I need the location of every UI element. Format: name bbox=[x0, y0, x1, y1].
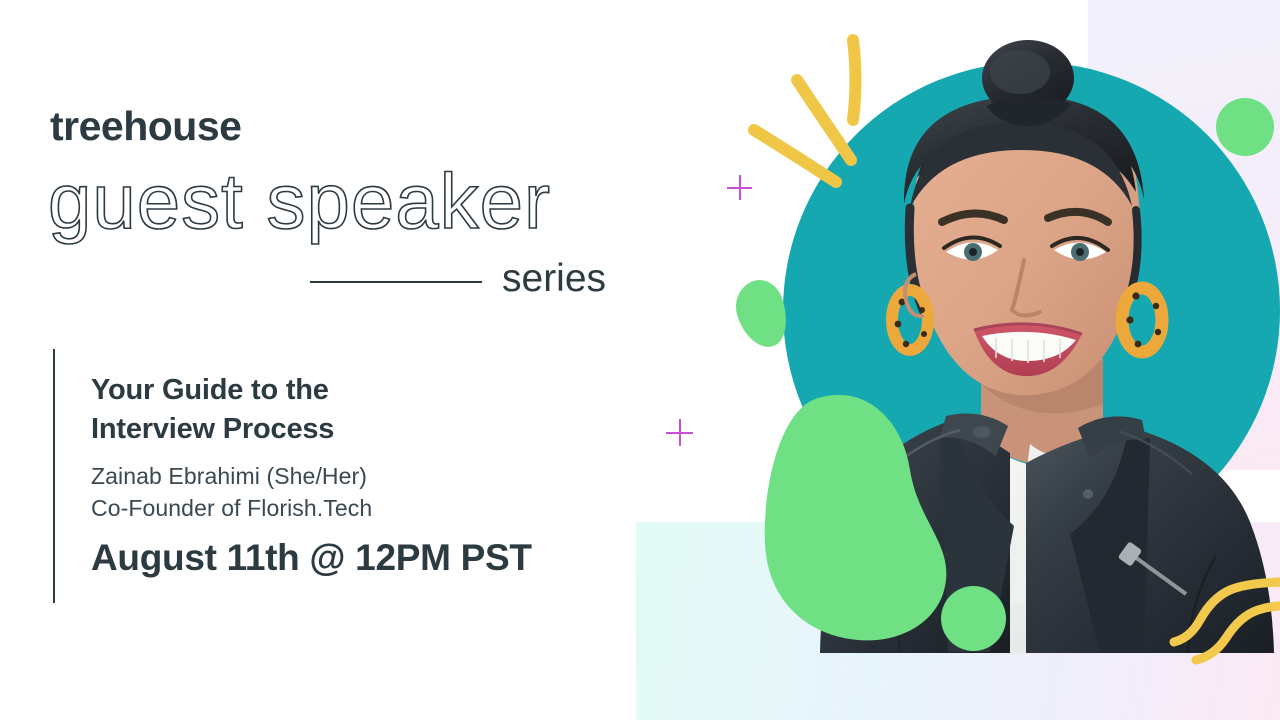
promo-slide: treehouse guest speaker series Your Guid… bbox=[0, 0, 1280, 720]
speaker-name: Zainab Ebrahimi (She/Her) bbox=[91, 461, 367, 492]
plus-mark-top bbox=[727, 175, 752, 200]
yellow-dash-strokes bbox=[744, 34, 894, 209]
talk-title-line-2: Interview Process bbox=[91, 410, 551, 449]
yellow-wave-strokes bbox=[1172, 578, 1280, 662]
talk-title-line-1: Your Guide to the bbox=[91, 371, 551, 410]
series-divider-rule bbox=[310, 281, 482, 283]
talk-title: Your Guide to the Interview Process bbox=[91, 371, 551, 449]
brand-wordmark: treehouse bbox=[50, 106, 241, 147]
headline-outline-text: guest speaker bbox=[44, 160, 664, 250]
green-circle-bottom bbox=[941, 586, 1006, 651]
series-row: series bbox=[310, 255, 625, 305]
green-blob-main bbox=[762, 392, 952, 642]
plus-mark-middle bbox=[666, 419, 693, 446]
svg-text:guest speaker: guest speaker bbox=[48, 157, 551, 245]
left-accent-rule bbox=[53, 349, 55, 603]
event-datetime: August 11th @ 12PM PST bbox=[91, 536, 532, 580]
speaker-role: Co-Founder of Florish.Tech bbox=[91, 493, 372, 524]
series-label: series bbox=[502, 255, 606, 304]
